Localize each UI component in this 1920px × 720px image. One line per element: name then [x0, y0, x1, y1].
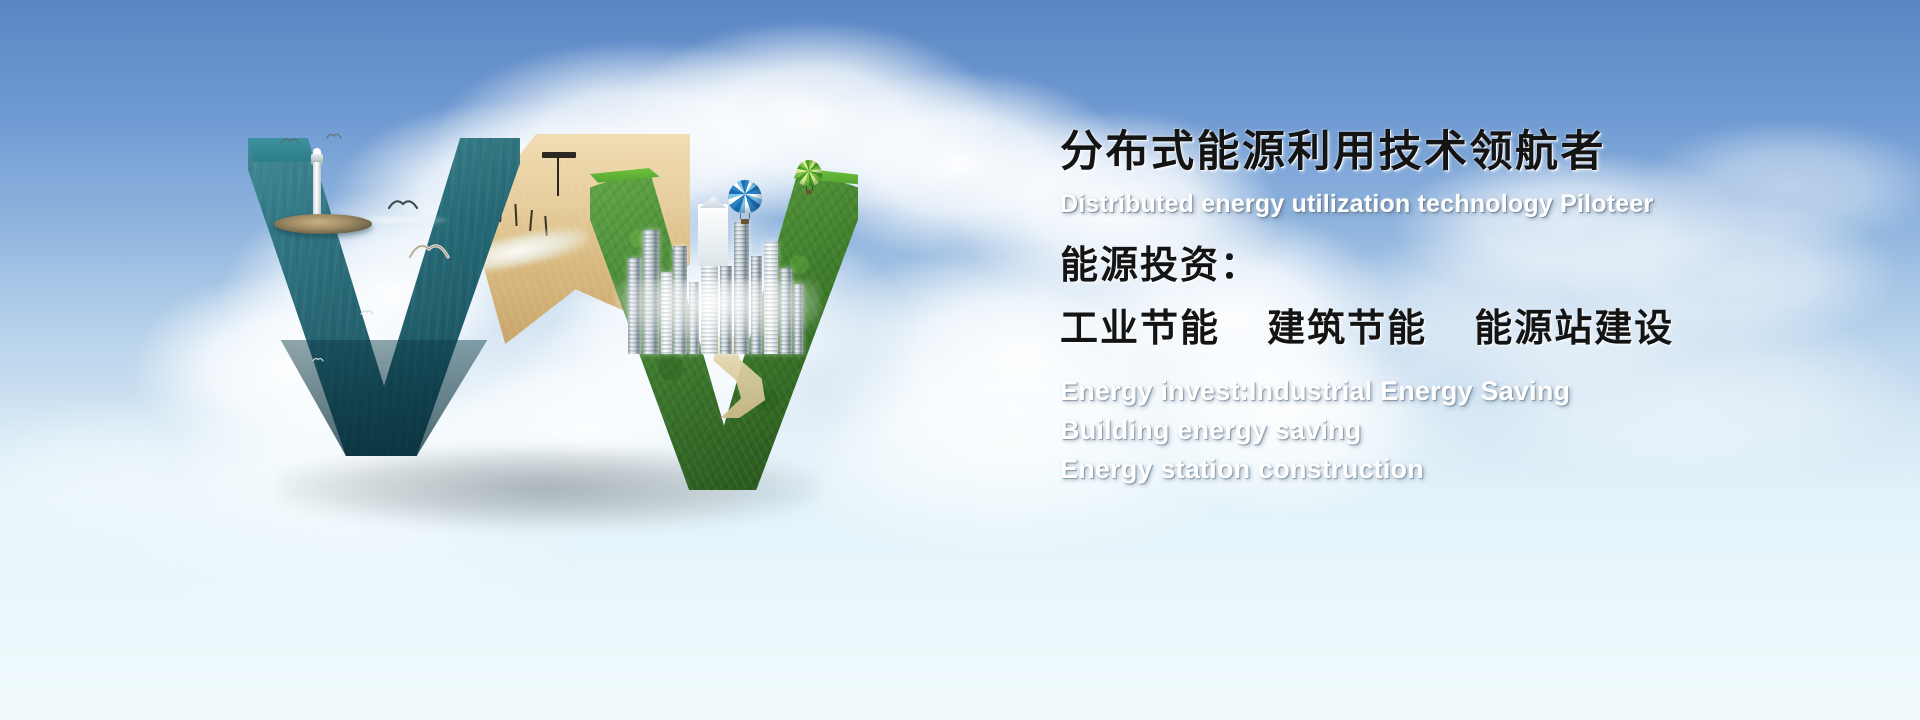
- service-item-1: 工业节能: [1060, 308, 1220, 350]
- hot-air-balloon-blue: [728, 180, 762, 224]
- service-item-3: 能源站建设: [1474, 308, 1674, 350]
- landmark-building: [698, 204, 728, 266]
- service-item-2: 建筑节能: [1267, 308, 1427, 350]
- section-label-chinese: 能源投资：: [1060, 245, 1820, 288]
- services-english: Energy invest:Industrial Energy Saving B…: [1060, 372, 1820, 489]
- services-chinese: 工业节能 建筑节能 能源站建设: [1060, 308, 1820, 351]
- service-english-1: Energy invest:Industrial Energy Saving: [1060, 372, 1820, 411]
- headline-english: Distributed energy utilization technolog…: [1060, 189, 1820, 219]
- hero-banner: 分布式能源利用技术领航者 Distributed energy utilizat…: [0, 0, 1920, 720]
- w-letter-sculpture: [238, 130, 858, 530]
- seagull-icon: [388, 196, 418, 212]
- headline-chinese: 分布式能源利用技术领航者: [1060, 128, 1820, 176]
- seagull-icon: [312, 356, 324, 363]
- seagull-icon: [360, 308, 374, 316]
- service-english-2: Building energy saving: [1060, 411, 1820, 450]
- lighthouse-rock: [274, 214, 372, 234]
- hot-air-balloon-green: [796, 160, 822, 194]
- seagull-icon: [326, 132, 342, 140]
- seagull-icon: [280, 136, 300, 145]
- city-haze: [614, 280, 820, 338]
- service-english-3: Energy station construction: [1060, 450, 1820, 489]
- signpost-icon: [538, 146, 578, 196]
- ocean-deep-shadow: [248, 340, 520, 456]
- seagull-icon: [408, 238, 450, 262]
- banner-copy: 分布式能源利用技术领航者 Distributed energy utilizat…: [1060, 128, 1820, 489]
